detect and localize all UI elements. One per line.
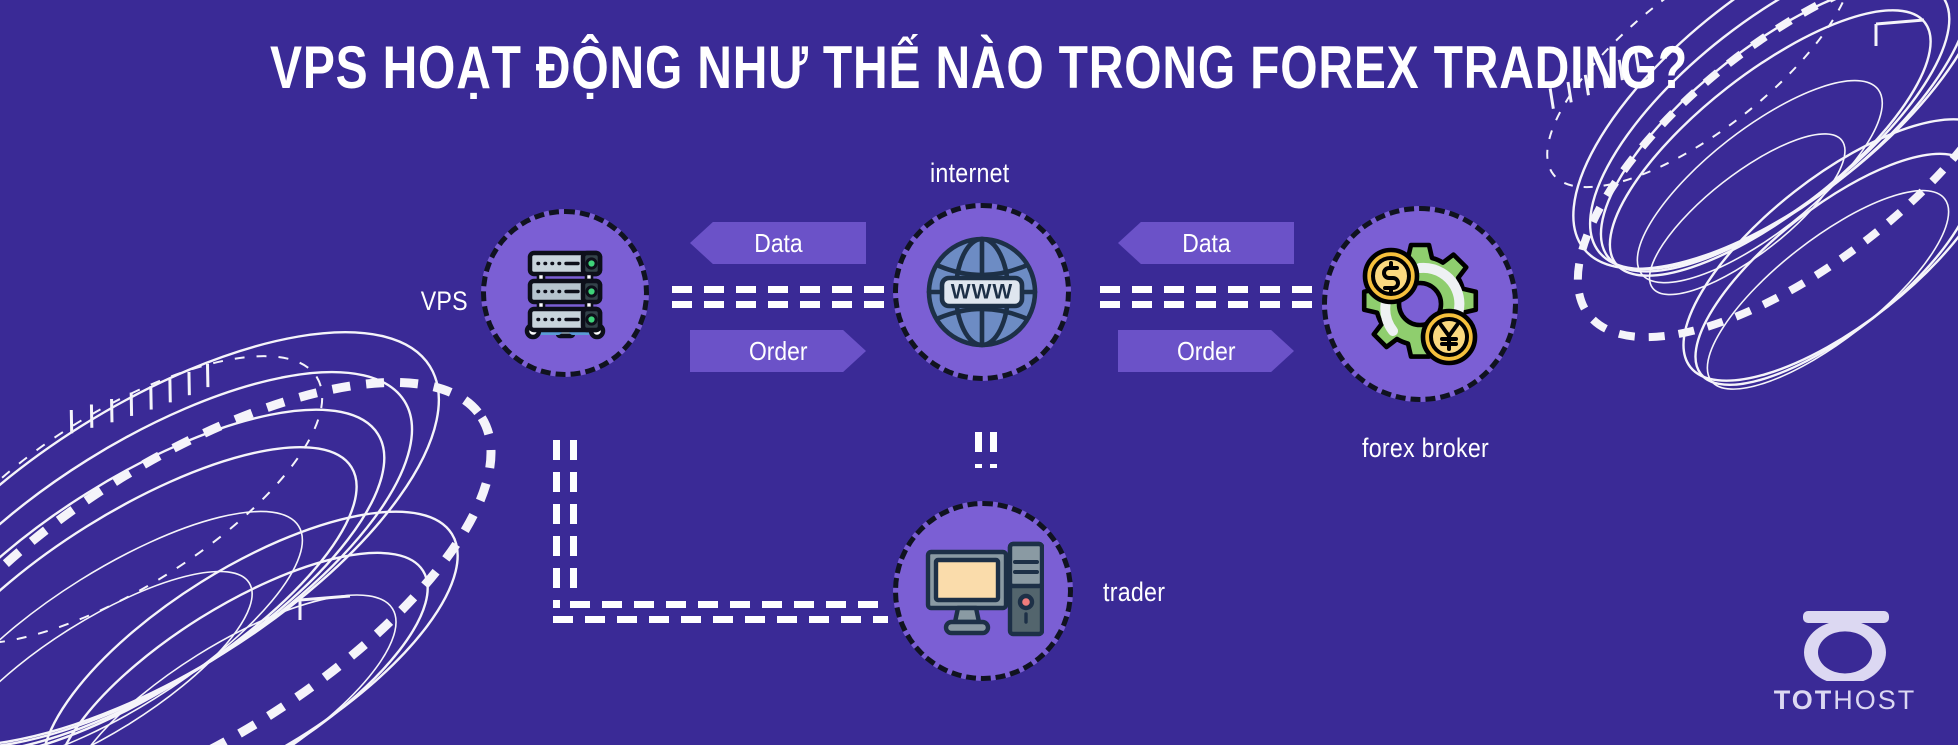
flow-label: Data — [1182, 228, 1230, 259]
node-label-vps: VPS — [421, 286, 468, 317]
flow-label: Order — [1177, 336, 1235, 367]
connector-internet-trader-right — [990, 432, 997, 468]
desktop-computer-icon — [922, 536, 1044, 646]
node-forex-broker — [1322, 206, 1518, 402]
flow-ribbon-vps-internet-data: Data — [690, 222, 866, 264]
node-label-forex-broker: forex broker — [1362, 433, 1489, 464]
node-internet: WWW — [893, 203, 1071, 381]
node-trader — [893, 501, 1073, 681]
gear-currency-coins-icon — [1353, 237, 1487, 371]
logo-word-primary: TOT — [1774, 685, 1834, 715]
connector-internet-trader-left — [975, 432, 982, 468]
node-vps — [481, 209, 649, 377]
connector-internet-broker-upper — [1100, 286, 1318, 293]
flow-label: Data — [754, 228, 802, 259]
connector-vps-trader-vertical-outer — [553, 440, 560, 608]
globe-www-icon: WWW — [920, 230, 1044, 354]
connector-vps-trader-horizontal-inner — [570, 601, 888, 608]
tothost-mark-icon — [1771, 607, 1919, 681]
connector-vps-trader-vertical-inner — [570, 440, 577, 592]
flow-ribbon-internet-broker-data: Data — [1118, 222, 1294, 264]
node-label-internet: internet — [930, 158, 1010, 189]
tothost-wordmark: TOTHOST — [1771, 685, 1919, 716]
flow-label: Order — [749, 336, 807, 367]
connector-vps-trader-horizontal-outer — [553, 616, 888, 623]
infographic-canvas: VPS HOẠT ĐỘNG NHƯ THẾ NÀO TRONG FOREX TR… — [0, 0, 1958, 745]
flow-ribbon-internet-broker-order: Order — [1118, 330, 1294, 372]
svg-text:WWW: WWW — [951, 281, 1013, 304]
connector-vps-internet-lower — [672, 301, 890, 308]
logo-word-secondary: HOST — [1833, 685, 1916, 715]
page-title: VPS HOẠT ĐỘNG NHƯ THẾ NÀO TRONG FOREX TR… — [196, 36, 1762, 101]
connector-vps-internet-upper — [672, 286, 890, 293]
connector-internet-broker-lower — [1100, 301, 1318, 308]
server-rack-icon — [513, 241, 617, 345]
node-label-trader: trader — [1103, 577, 1165, 608]
flow-ribbon-vps-internet-order: Order — [690, 330, 866, 372]
tothost-logo[interactable]: TOTHOST — [1771, 607, 1919, 717]
